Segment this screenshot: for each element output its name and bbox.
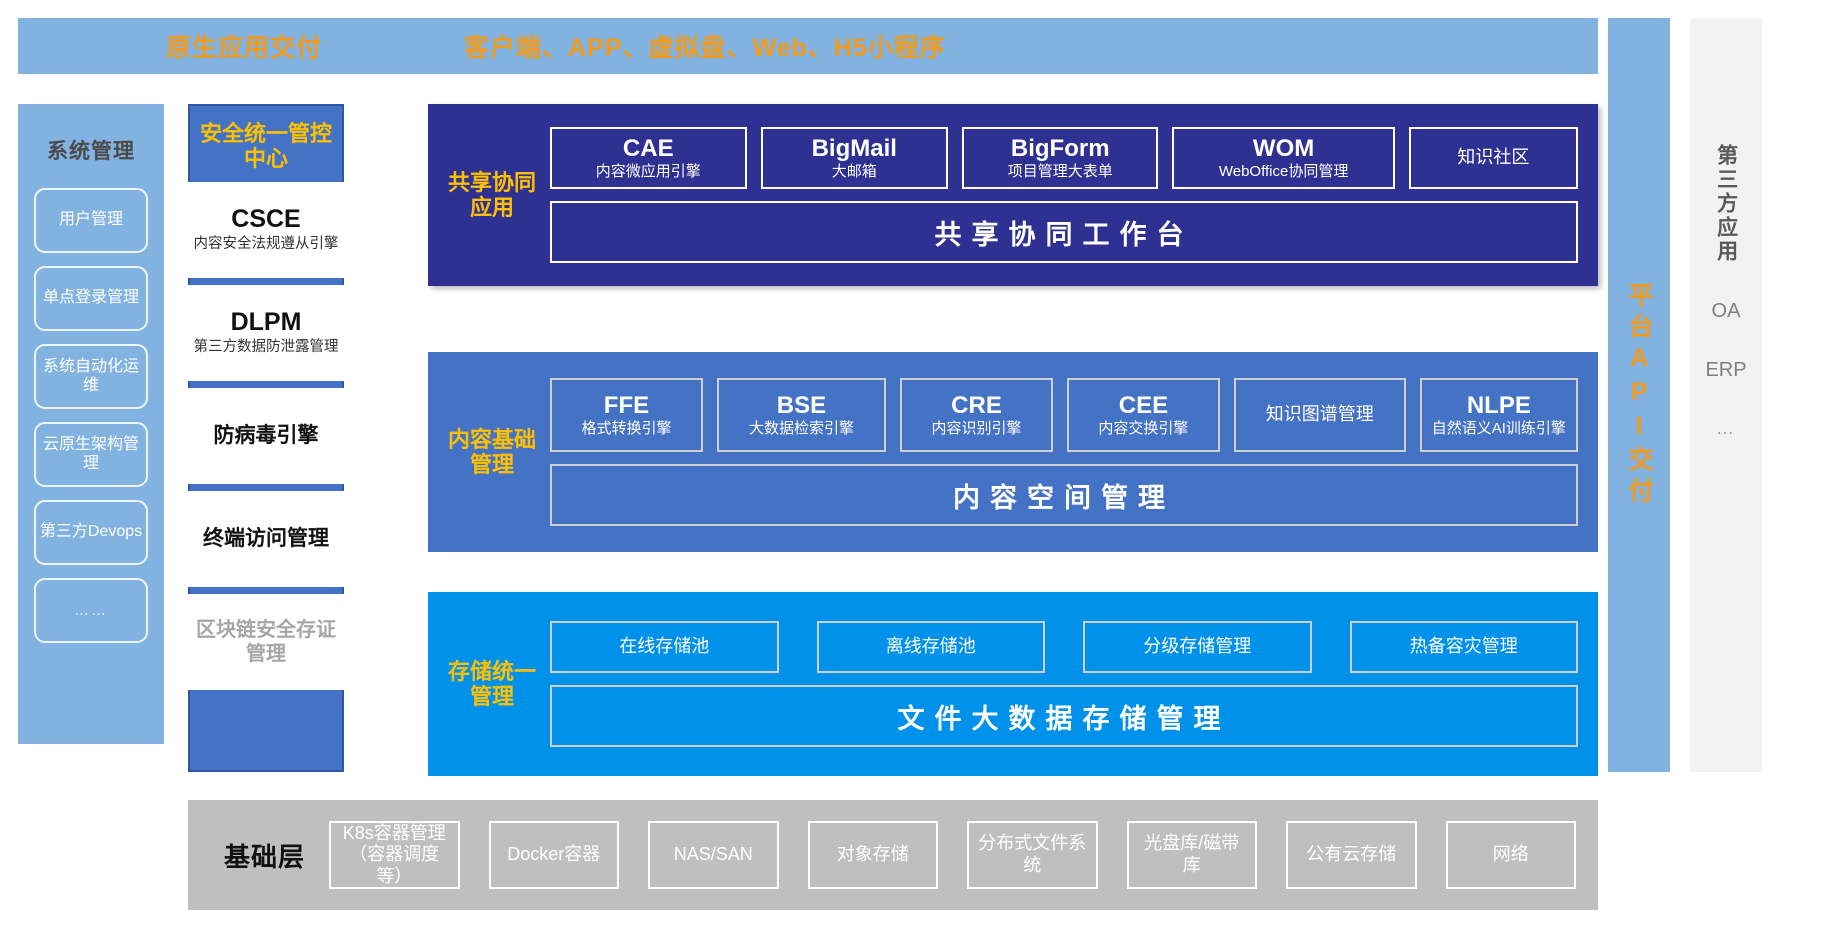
engine-chip-cee[interactable]: CEE 内容交换引擎 — [1067, 378, 1220, 452]
app-chip-desc: 大邮箱 — [832, 163, 877, 180]
third-party-apps-column: 第三方应用 OA ERP … — [1690, 18, 1762, 772]
content-space-management-bar[interactable]: 内容空间管理 — [550, 464, 1578, 526]
security-item-code: 区块链安全存证管理 — [192, 618, 340, 666]
engine-chip-code: 知识图谱管理 — [1266, 404, 1374, 426]
app-chip-bigmail[interactable]: BigMail 大邮箱 — [761, 127, 948, 189]
platform-api-column: 平台API交付 — [1608, 18, 1670, 772]
sysmgmt-item-sso[interactable]: 单点登录管理 — [34, 266, 148, 331]
engine-chip-ffe[interactable]: FFE 格式转换引擎 — [550, 378, 703, 452]
security-item-code: 防病毒引擎 — [214, 424, 319, 447]
sysmgmt-item-automation[interactable]: 系统自动化运维 — [34, 344, 148, 409]
shared-collaboration-workbench-bar[interactable]: 共享协同工作台 — [550, 201, 1578, 263]
shared-collaboration-label: 共享协同应用 — [442, 170, 542, 221]
app-chip-bigform[interactable]: BigForm 项目管理大表单 — [962, 127, 1159, 189]
security-item-endpoint-access[interactable]: 终端访问管理 — [188, 491, 344, 587]
app-chip-code: 知识社区 — [1457, 147, 1529, 169]
file-bigdata-storage-bar[interactable]: 文件大数据存储管理 — [550, 685, 1578, 747]
shared-collaboration-layer: 共享协同应用 CAE 内容微应用引擎 BigMail 大邮箱 BigForm 项… — [428, 104, 1598, 286]
base-chip-public-cloud[interactable]: 公有云存储 — [1286, 821, 1417, 889]
sysmgmt-item-cloudnative[interactable]: 云原生架构管理 — [34, 422, 148, 487]
app-chip-code: BigMail — [812, 136, 897, 162]
base-chip-label: 光盘库/磁带库 — [1137, 833, 1248, 876]
engine-chip-code: BSE — [777, 393, 826, 419]
app-chip-cae[interactable]: CAE 内容微应用引擎 — [550, 127, 747, 189]
security-item-code: DLPM — [231, 309, 302, 337]
base-chip-label: Docker容器 — [507, 844, 600, 866]
sysmgmt-item-label: 单点登录管理 — [43, 289, 139, 308]
engine-chip-nlpe[interactable]: NLPE 自然语义AI训练引擎 — [1420, 378, 1578, 452]
security-item-csce[interactable]: CSCE 内容安全法规遵从引擎 — [188, 182, 344, 278]
storage-management-label: 存储统一管理 — [442, 659, 542, 710]
base-chip-object-storage[interactable]: 对象存储 — [808, 821, 939, 889]
app-chip-code: WOM — [1253, 136, 1314, 162]
base-infrastructure-layer: 基础层 K8s容器管理（容器调度等） Docker容器 NAS/SAN 对象存储… — [188, 800, 1598, 910]
storage-chip-code: 分级存储管理 — [1143, 636, 1251, 658]
storage-chip-online-pool[interactable]: 在线存储池 — [550, 621, 779, 673]
banner-native-delivery-label: 原生应用交付 — [166, 28, 322, 64]
engine-chip-bse[interactable]: BSE 大数据检索引擎 — [717, 378, 886, 452]
storage-chip-offline-pool[interactable]: 离线存储池 — [817, 621, 1046, 673]
base-chip-label: 网络 — [1493, 844, 1529, 866]
app-chip-code: CAE — [623, 136, 674, 162]
sysmgmt-item-label: 系统自动化运维 — [38, 358, 144, 396]
third-party-item-more: … — [1716, 418, 1736, 439]
system-management-title: 系统管理 — [47, 135, 135, 165]
sysmgmt-item-label: 云原生架构管理 — [38, 436, 144, 474]
security-item-blockchain[interactable]: 区块链安全存证管理 — [188, 594, 344, 690]
sysmgmt-item-label: 第三方Devops — [40, 523, 142, 542]
app-chip-desc: 内容微应用引擎 — [596, 163, 701, 180]
sysmgmt-item-user[interactable]: 用户管理 — [34, 188, 148, 253]
base-layer-chip-row: K8s容器管理（容器调度等） Docker容器 NAS/SAN 对象存储 分布式… — [329, 821, 1598, 889]
base-chip-docker[interactable]: Docker容器 — [489, 821, 620, 889]
security-item-code: CSCE — [231, 206, 300, 234]
engine-chip-cre[interactable]: CRE 内容识别引擎 — [900, 378, 1053, 452]
engine-chip-code: NLPE — [1467, 393, 1531, 419]
security-item-code: 终端访问管理 — [203, 527, 329, 550]
base-chip-k8s[interactable]: K8s容器管理（容器调度等） — [329, 821, 460, 889]
base-chip-distributed-fs[interactable]: 分布式文件系统 — [967, 821, 1098, 889]
storage-chip-tiered[interactable]: 分级存储管理 — [1083, 621, 1312, 673]
storage-chip-code: 热备容灾管理 — [1410, 636, 1518, 658]
engine-chip-knowledge-graph[interactable]: 知识图谱管理 — [1234, 378, 1406, 452]
sysmgmt-item-devops[interactable]: 第三方Devops — [34, 500, 148, 565]
sysmgmt-item-label: …… — [74, 602, 108, 620]
app-chip-wom[interactable]: WOM WebOffice协同管理 — [1172, 127, 1394, 189]
app-chip-desc: 项目管理大表单 — [1008, 163, 1113, 180]
storage-management-layer: 存储统一管理 在线存储池 离线存储池 分级存储管理 热备容灾管理 文件大数据存储… — [428, 592, 1598, 776]
sysmgmt-item-more[interactable]: …… — [34, 578, 148, 643]
engine-chip-code: FFE — [604, 393, 649, 419]
storage-chip-hot-standby[interactable]: 热备容灾管理 — [1350, 621, 1579, 673]
app-chip-desc: WebOffice协同管理 — [1219, 163, 1348, 180]
engine-chip-code: CRE — [951, 393, 1002, 419]
engine-chip-desc: 格式转换引擎 — [581, 420, 671, 437]
engine-chip-desc: 内容识别引擎 — [931, 420, 1021, 437]
native-delivery-banner: 原生应用交付 客户端、APP、虚拟盘、Web、H5小程序 — [18, 18, 1598, 74]
base-chip-label: 对象存储 — [837, 844, 909, 866]
storage-chip-code: 离线存储池 — [886, 636, 976, 658]
base-chip-nas-san[interactable]: NAS/SAN — [648, 821, 779, 889]
security-control-center-column: 安全统一管控中心 CSCE 内容安全法规遵从引擎 DLPM 第三方数据防泄露管理… — [188, 104, 344, 772]
content-foundation-chip-row: FFE 格式转换引擎 BSE 大数据检索引擎 CRE 内容识别引擎 CEE 内容… — [550, 378, 1578, 452]
storage-chip-row: 在线存储池 离线存储池 分级存储管理 热备容灾管理 — [550, 621, 1578, 673]
base-chip-label: K8s容器管理（容器调度等） — [339, 823, 450, 888]
engine-chip-desc: 大数据检索引擎 — [749, 420, 854, 437]
app-chip-code: BigForm — [1011, 136, 1110, 162]
third-party-title: 第三方应用 — [1712, 144, 1739, 264]
security-item-desc: 第三方数据防泄露管理 — [194, 339, 339, 356]
third-party-item-oa[interactable]: OA — [1712, 300, 1741, 323]
base-chip-label: 公有云存储 — [1306, 844, 1396, 866]
storage-chip-code: 在线存储池 — [619, 636, 709, 658]
base-chip-label: 分布式文件系统 — [977, 833, 1088, 876]
base-chip-optical-tape[interactable]: 光盘库/磁带库 — [1127, 821, 1258, 889]
security-item-desc: 内容安全法规遵从引擎 — [194, 236, 339, 253]
shared-collaboration-chip-row: CAE 内容微应用引擎 BigMail 大邮箱 BigForm 项目管理大表单 … — [550, 127, 1578, 189]
security-item-antivirus[interactable]: 防病毒引擎 — [188, 388, 344, 484]
sysmgmt-item-label: 用户管理 — [59, 211, 123, 230]
base-chip-label: NAS/SAN — [674, 844, 753, 866]
content-foundation-label: 内容基础管理 — [442, 427, 542, 478]
security-item-dlpm[interactable]: DLPM 第三方数据防泄露管理 — [188, 285, 344, 381]
base-layer-title: 基础层 — [224, 837, 305, 874]
banner-client-channels-label: 客户端、APP、虚拟盘、Web、H5小程序 — [464, 28, 946, 64]
content-foundation-layer: 内容基础管理 FFE 格式转换引擎 BSE 大数据检索引擎 CRE 内容识别引擎… — [428, 352, 1598, 552]
engine-chip-desc: 自然语义AI训练引擎 — [1432, 420, 1566, 437]
system-management-column: 系统管理 用户管理 单点登录管理 系统自动化运维 云原生架构管理 第三方Devo… — [18, 104, 164, 744]
third-party-item-erp[interactable]: ERP — [1705, 359, 1746, 382]
engine-chip-desc: 内容交换引擎 — [1098, 420, 1188, 437]
base-chip-network[interactable]: 网络 — [1446, 821, 1577, 889]
security-center-title: 安全统一管控中心 — [190, 121, 342, 172]
platform-api-label: 平台API交付 — [1621, 282, 1657, 508]
engine-chip-code: CEE — [1119, 393, 1168, 419]
app-chip-knowledge-community[interactable]: 知识社区 — [1409, 127, 1578, 189]
